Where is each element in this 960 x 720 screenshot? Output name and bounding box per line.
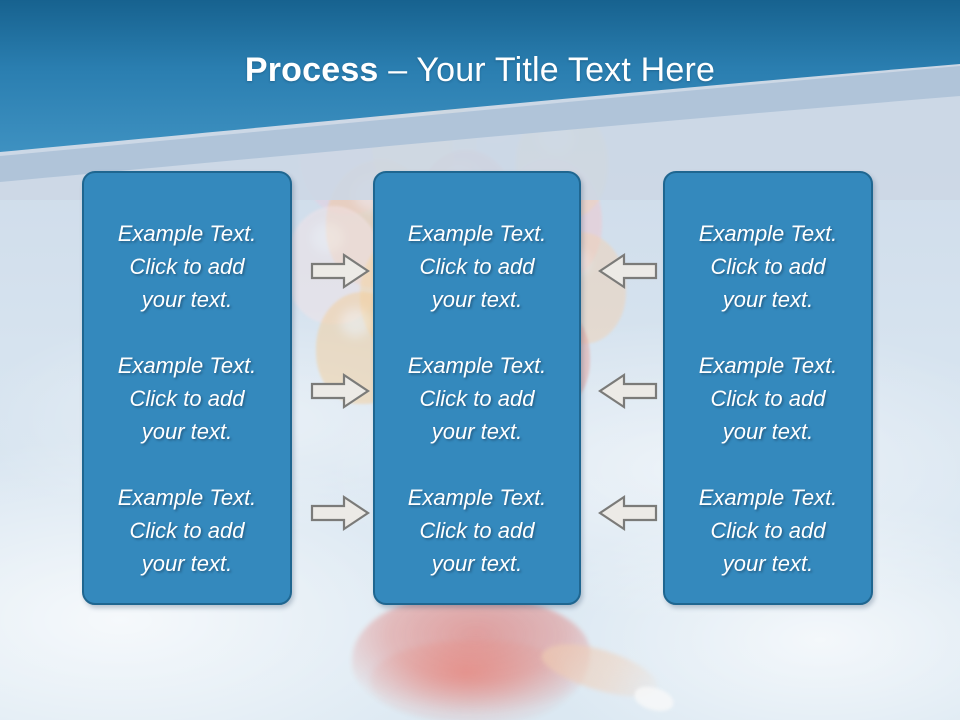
text-line: your text.	[385, 283, 569, 316]
page-title: Process – Your Title Text Here	[0, 48, 960, 92]
text-line: Click to add	[385, 514, 569, 547]
process-box-middle[interactable]: Example Text. Click to add your text. Ex…	[373, 171, 581, 605]
arrow-right-icon	[310, 252, 370, 290]
text-line: Example Text.	[385, 349, 569, 382]
text-line: your text.	[675, 283, 861, 316]
process-text-right-2: Example Text. Click to add your text.	[665, 349, 871, 448]
arrow-right-row2[interactable]	[310, 372, 370, 410]
text-line: Example Text.	[675, 349, 861, 382]
text-line: your text.	[94, 415, 280, 448]
text-line: Click to add	[385, 250, 569, 283]
text-line: Example Text.	[675, 481, 861, 514]
process-text-right-3: Example Text. Click to add your text.	[665, 481, 871, 580]
text-line: your text.	[675, 415, 861, 448]
text-line: your text.	[675, 547, 861, 580]
arrow-left-row1[interactable]	[598, 252, 658, 290]
arrow-right-icon	[310, 494, 370, 532]
text-line: Click to add	[385, 382, 569, 415]
arrow-left-icon	[598, 494, 658, 532]
arrow-right-icon	[310, 372, 370, 410]
text-line: Click to add	[675, 250, 861, 283]
title-rest-part: – Your Title Text Here	[379, 51, 716, 89]
text-line: Example Text.	[385, 481, 569, 514]
text-line: Click to add	[94, 382, 280, 415]
text-line: Click to add	[94, 514, 280, 547]
text-line: Click to add	[675, 382, 861, 415]
slide-canvas: Process – Your Title Text Here Example T…	[0, 0, 960, 720]
text-line: your text.	[385, 547, 569, 580]
process-text-right-1: Example Text. Click to add your text.	[665, 217, 871, 316]
text-line: Click to add	[94, 250, 280, 283]
arrow-right-row3[interactable]	[310, 494, 370, 532]
text-line: Example Text.	[94, 349, 280, 382]
arrow-left-icon	[598, 252, 658, 290]
arrow-left-icon	[598, 372, 658, 410]
process-text-left-2: Example Text. Click to add your text.	[84, 349, 290, 448]
text-line: Example Text.	[94, 217, 280, 250]
text-line: your text.	[94, 547, 280, 580]
arrow-left-row2[interactable]	[598, 372, 658, 410]
header-banner	[0, 0, 960, 190]
text-line: Example Text.	[385, 217, 569, 250]
girl-dress-hem	[370, 640, 570, 720]
process-text-left-1: Example Text. Click to add your text.	[84, 217, 290, 316]
arrow-left-row3[interactable]	[598, 494, 658, 532]
process-text-middle-3: Example Text. Click to add your text.	[375, 481, 579, 580]
text-line: your text.	[385, 415, 569, 448]
text-line: your text.	[94, 283, 280, 316]
text-line: Click to add	[675, 514, 861, 547]
process-text-left-3: Example Text. Click to add your text.	[84, 481, 290, 580]
process-box-left[interactable]: Example Text. Click to add your text. Ex…	[82, 171, 292, 605]
process-box-right[interactable]: Example Text. Click to add your text. Ex…	[663, 171, 873, 605]
arrow-right-row1[interactable]	[310, 252, 370, 290]
text-line: Example Text.	[675, 217, 861, 250]
process-text-middle-2: Example Text. Click to add your text.	[375, 349, 579, 448]
title-bold-part: Process	[245, 51, 379, 89]
text-line: Example Text.	[94, 481, 280, 514]
process-text-middle-1: Example Text. Click to add your text.	[375, 217, 579, 316]
